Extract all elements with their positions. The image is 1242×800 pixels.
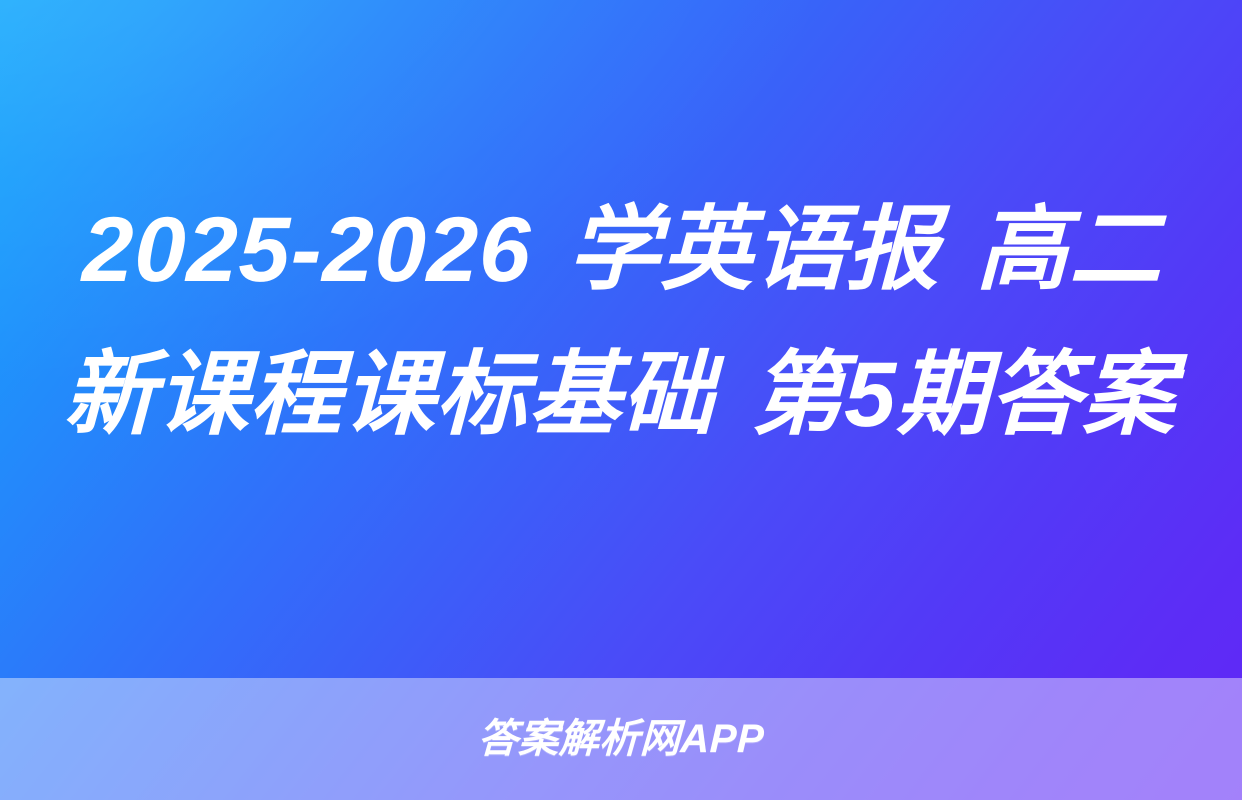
app-brand-label: 答案解析网APP: [477, 719, 765, 759]
title-block: 2025-2026 学英语报 高二 新课程课标基础 第5期答案: [0, 178, 1242, 468]
page-title: 2025-2026 学英语报 高二 新课程课标基础 第5期答案: [41, 178, 1200, 468]
footer-brand-band: 答案解析网APP: [0, 678, 1242, 800]
cover-card: 2025-2026 学英语报 高二 新课程课标基础 第5期答案 答案解析网APP: [0, 0, 1242, 800]
